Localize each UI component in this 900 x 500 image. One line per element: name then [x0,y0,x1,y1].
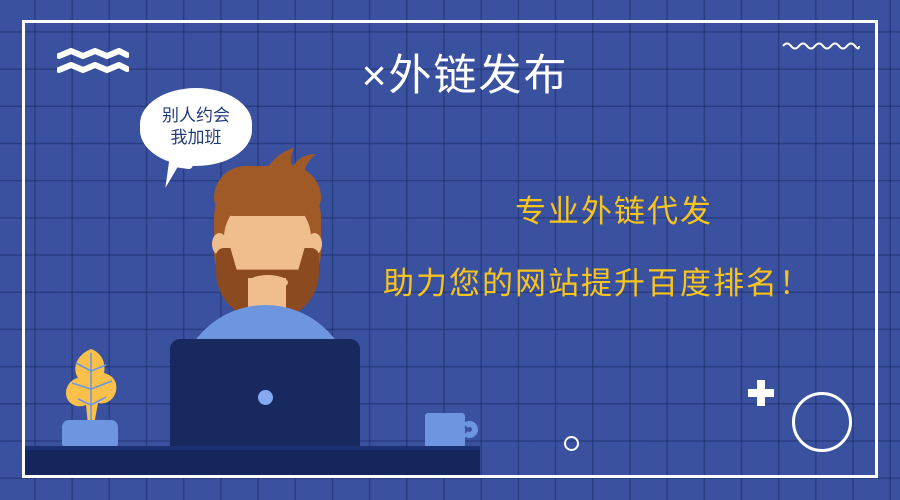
speech-bubble-line1: 别人约会 [162,105,230,127]
decorative-frame [22,20,878,478]
corner-circle-icon [792,392,852,452]
speech-bubble-line2: 我加班 [171,127,222,149]
speech-bubble: 别人约会 我加班 [140,88,252,166]
poster-canvas: 别人约会 我加班 ×外链发布 专业外链代发 助力您的网站提升百度排名！ [0,0,900,500]
